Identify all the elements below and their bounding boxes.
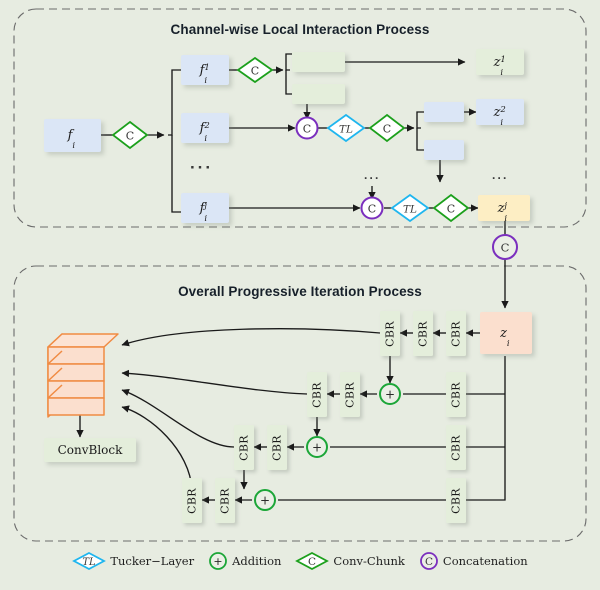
addition-icon-2[interactable]: +	[307, 437, 327, 457]
svg-text:+: +	[385, 388, 395, 402]
conv-block-node: ConvBlock	[44, 438, 136, 462]
cbr-r2-c1: CBR	[307, 372, 327, 417]
cbr-label: CBR	[186, 488, 199, 514]
svg-text:C: C	[251, 65, 259, 78]
conv-chunk-icon-2[interactable]: C	[370, 115, 404, 141]
conv-chunk-icon: C	[295, 551, 329, 571]
svg-text:TL: TL	[403, 204, 417, 216]
legend-item-tucker-layer: TL Tucker−Layer	[72, 551, 194, 571]
svg-text:C: C	[303, 123, 311, 136]
cbr-label: CBR	[311, 382, 324, 408]
cbr-label: CBR	[219, 488, 232, 514]
svg-text:C: C	[126, 130, 134, 143]
svg-text:C: C	[383, 123, 391, 136]
cbr-label: CBR	[450, 321, 463, 347]
legend-item-addition: + Addition	[208, 551, 281, 571]
tucker-layer-icon: TL	[72, 551, 106, 571]
svg-text:C: C	[368, 203, 376, 216]
legend: TL Tucker−Layer + Addition C Conv-Chunk …	[0, 551, 600, 571]
cbr-label: CBR	[450, 382, 463, 408]
svg-text:+: +	[213, 555, 222, 568]
cbr-r1-c3: CBR	[446, 311, 466, 356]
svg-text:+: +	[260, 494, 270, 508]
cbr-r2-right: CBR	[446, 372, 466, 417]
svg-text:C: C	[425, 556, 433, 568]
legend-label-concatenation: Concatenation	[443, 554, 528, 568]
conv-chunk-icon-split[interactable]: C	[113, 122, 147, 148]
tucker-layer-icon-1[interactable]: TL	[328, 115, 364, 141]
addition-icon-3[interactable]: +	[255, 490, 275, 510]
operator-layer-top: C C C TL C C TL	[0, 0, 600, 590]
addition-icon-1[interactable]: +	[380, 384, 400, 404]
cbr-r3-c2: CBR	[267, 425, 287, 470]
cbr-r1-c2: CBR	[413, 311, 433, 356]
cbr-r4-c2: CBR	[215, 478, 235, 523]
bottom-input-node-zi-label: zi	[500, 326, 512, 341]
cbr-label: CBR	[238, 435, 251, 461]
cbr-label: CBR	[384, 321, 397, 347]
concatenation-icon-1[interactable]: C	[297, 118, 318, 139]
conv-chunk-icon-1[interactable]: C	[238, 58, 272, 82]
cbr-r4-right: CBR	[446, 478, 466, 523]
concatenation-icon-bridge[interactable]: C	[493, 235, 517, 259]
legend-item-concatenation: C Concatenation	[419, 551, 528, 571]
cbr-r4-c1: CBR	[182, 478, 202, 523]
concatenation-icon-2[interactable]: C	[362, 198, 383, 219]
cbr-r3-c1: CBR	[234, 425, 254, 470]
cbr-label: CBR	[450, 488, 463, 514]
svg-text:C: C	[501, 241, 510, 255]
svg-text:+: +	[312, 441, 322, 455]
concatenation-icon: C	[419, 551, 439, 571]
cbr-label: CBR	[271, 435, 284, 461]
bottom-input-node-zi: zi	[480, 312, 532, 354]
legend-label-conv-chunk: Conv-Chunk	[333, 554, 405, 568]
svg-text:TL: TL	[83, 557, 97, 568]
legend-label-tucker-layer: Tucker−Layer	[110, 554, 194, 568]
cbr-r3-right: CBR	[446, 425, 466, 470]
addition-icon: +	[208, 551, 228, 571]
legend-label-addition: Addition	[232, 554, 281, 568]
svg-text:C: C	[447, 203, 455, 216]
cbr-r1-c1: CBR	[380, 311, 400, 356]
cbr-label: CBR	[417, 321, 430, 347]
svg-text:TL: TL	[339, 124, 353, 136]
diagram-root: Channel-wise Local Interaction Process O…	[0, 0, 600, 590]
cbr-label: CBR	[450, 435, 463, 461]
cbr-r2-c2: CBR	[340, 372, 360, 417]
cbr-label: CBR	[344, 382, 357, 408]
legend-item-conv-chunk: C Conv-Chunk	[295, 551, 405, 571]
tucker-layer-icon-2[interactable]: TL	[392, 195, 428, 221]
conv-chunk-icon-3[interactable]: C	[434, 195, 468, 221]
svg-text:C: C	[308, 556, 316, 568]
